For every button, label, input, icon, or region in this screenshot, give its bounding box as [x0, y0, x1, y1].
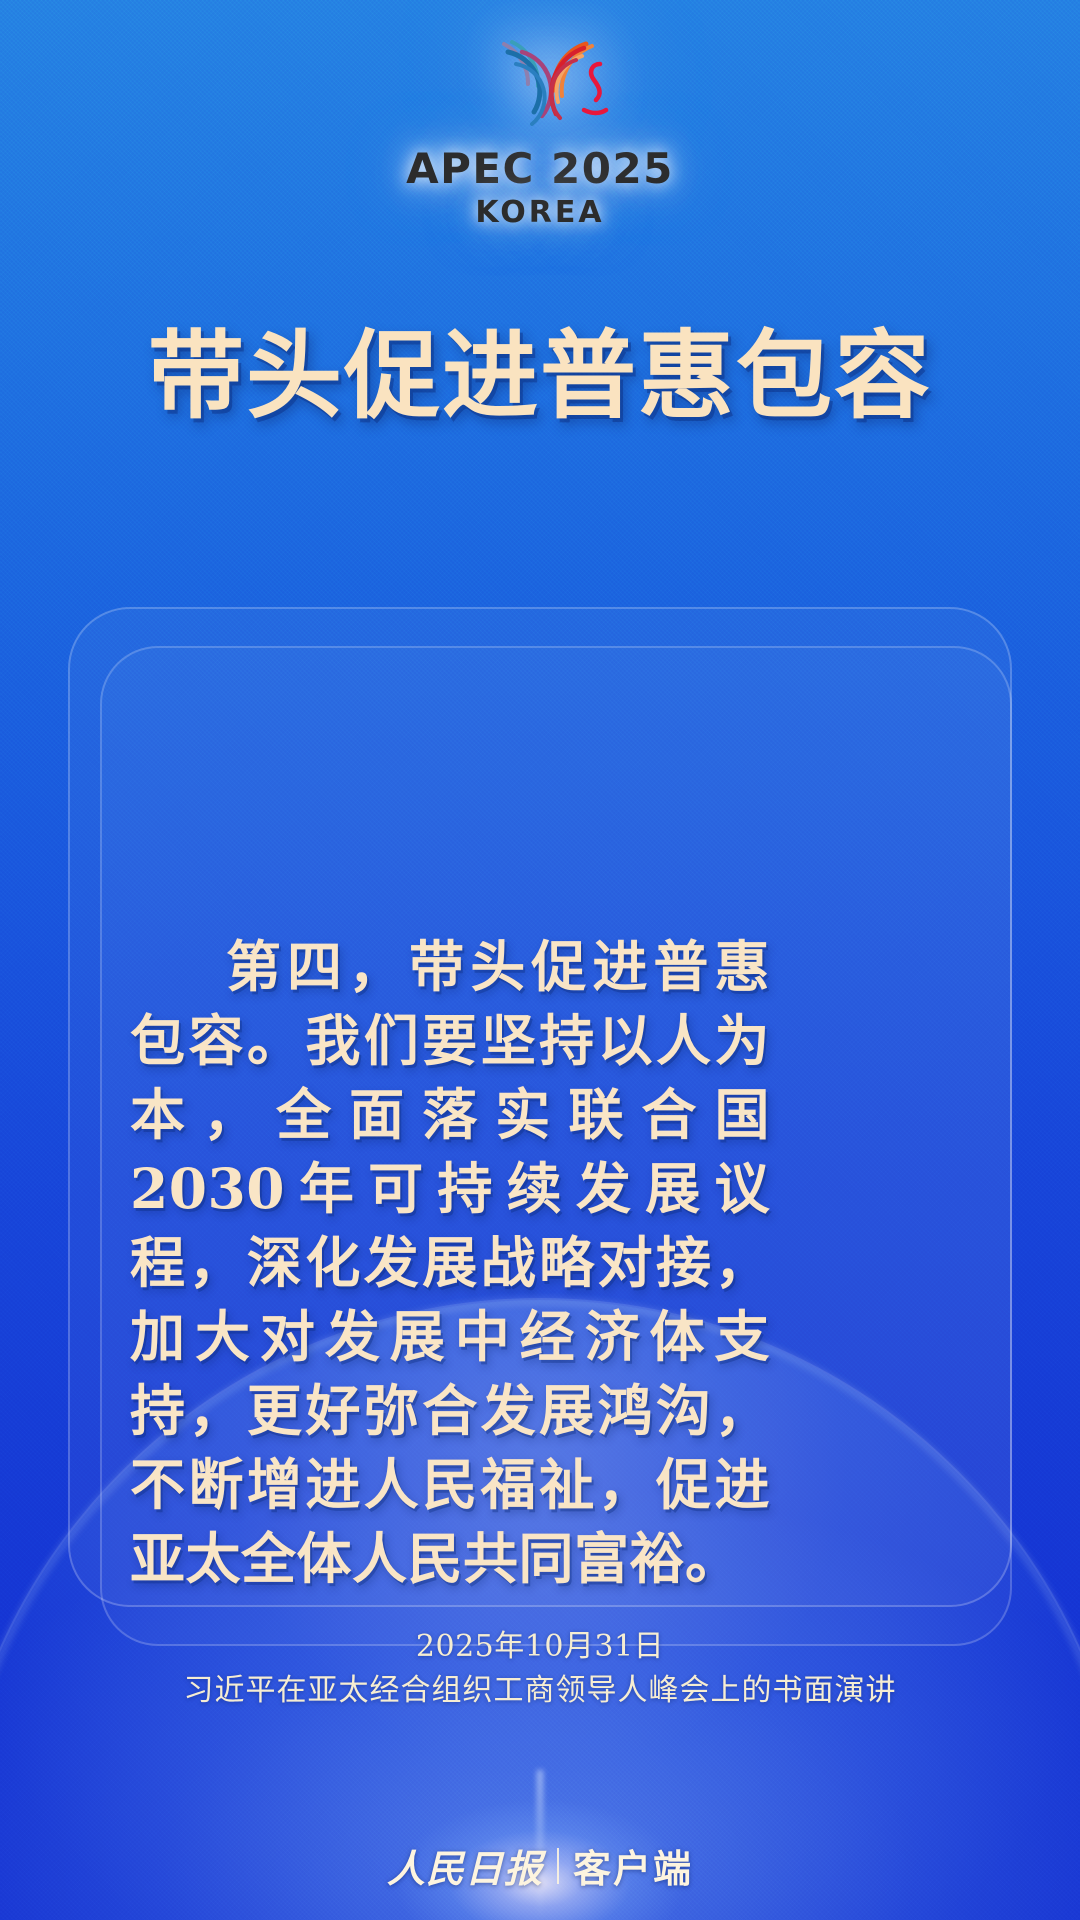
apec-country-label: KOREA — [475, 195, 604, 230]
earth-light-flare — [330, 1740, 750, 1920]
brand-separator — [557, 1848, 559, 1884]
page-title: 带头促进普惠包容 — [0, 326, 1080, 427]
apec-emblem-icon — [450, 30, 630, 140]
brand-footer: 人民日报 客户端 — [0, 1838, 1080, 1893]
brand-product: 客户端 — [573, 1838, 693, 1893]
speech-date: 2025年10月31日 — [0, 1626, 1080, 1668]
speech-source: 习近平在亚太经合组织工商领导人峰会上的书面演讲 — [0, 1668, 1080, 1714]
brand-publisher: 人民日报 — [387, 1838, 543, 1893]
quote-body-text: 第四，带头促进普惠包容。我们要坚持以人为本，全面落实联合国2030年可持续发展议… — [130, 930, 770, 1596]
apec-wordmark: APEC 2025 — [406, 144, 674, 193]
attribution-block: 2025年10月31日 习近平在亚太经合组织工商领导人峰会上的书面演讲 — [0, 1626, 1080, 1714]
poster-root: APEC 2025 KOREA 带头促进普惠包容 第四，带头促进普惠包容。我们要… — [0, 0, 1080, 1920]
apec-logo-block: APEC 2025 KOREA — [0, 30, 1080, 230]
